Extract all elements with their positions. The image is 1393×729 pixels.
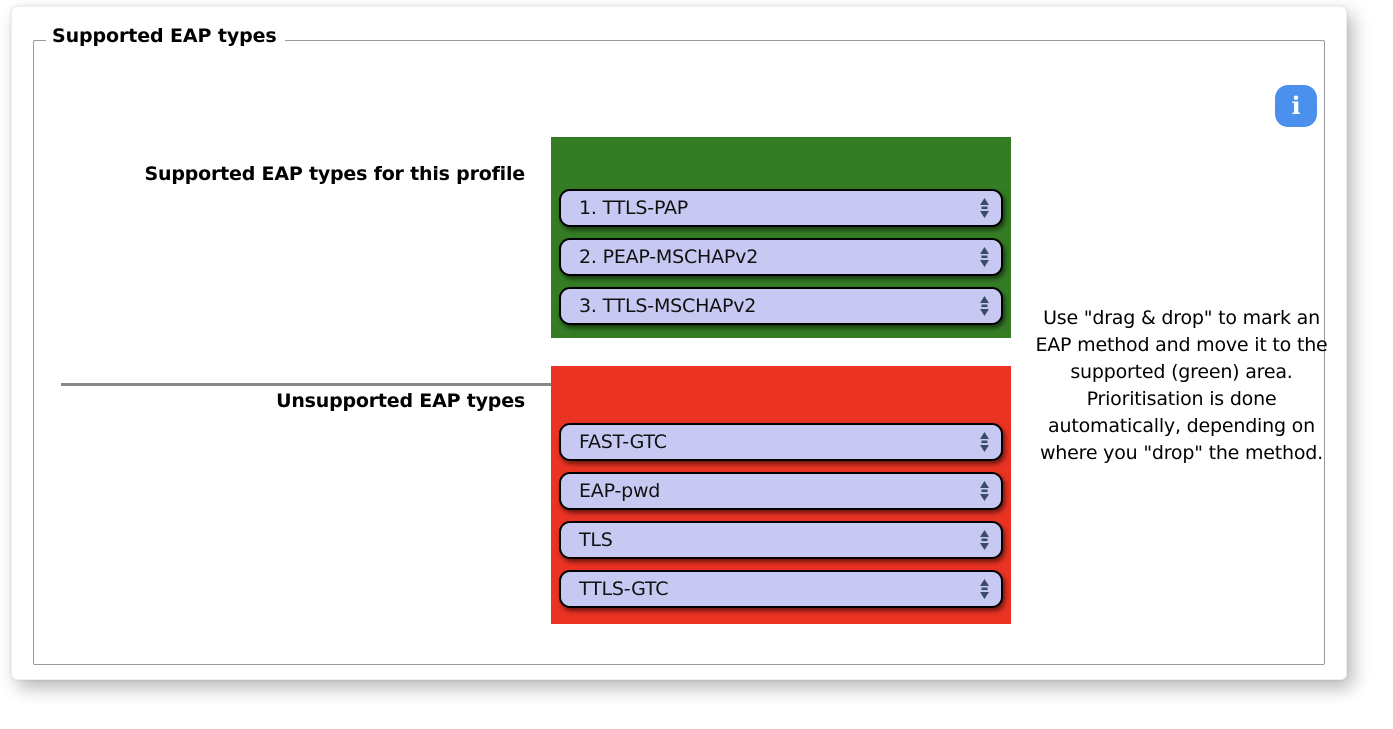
eap-item[interactable]: EAP-pwd — [559, 472, 1003, 510]
sort-updown-icon[interactable] — [967, 474, 1001, 508]
eap-item-label: EAP-pwd — [561, 480, 967, 502]
sort-updown-icon[interactable] — [967, 191, 1001, 225]
eap-item[interactable]: 1. TTLS-PAP — [559, 189, 1003, 227]
supported-eap-types-groupbox: Supported EAP types i Supported EAP type… — [33, 40, 1325, 665]
sort-updown-icon[interactable] — [967, 425, 1001, 459]
eap-item-label: 1. TTLS-PAP — [561, 197, 967, 219]
supported-zone-label: Supported EAP types for this profile — [55, 163, 525, 185]
sort-updown-icon[interactable] — [967, 289, 1001, 323]
eap-item[interactable]: 2. PEAP-MSCHAPv2 — [559, 238, 1003, 276]
eap-item-label: 3. TTLS-MSCHAPv2 — [561, 295, 967, 317]
sort-updown-icon[interactable] — [967, 240, 1001, 274]
eap-item-label: TTLS-GTC — [561, 578, 967, 600]
unsupported-dropzone[interactable]: FAST-GTC EAP-pwd — [551, 366, 1011, 624]
eap-item[interactable]: TLS — [559, 521, 1003, 559]
info-icon[interactable]: i — [1275, 85, 1317, 127]
sort-updown-icon[interactable] — [967, 523, 1001, 557]
eap-item-label: 2. PEAP-MSCHAPv2 — [561, 246, 967, 268]
supported-dropzone[interactable]: 1. TTLS-PAP 2. PEAP-MSCHAPv2 — [551, 137, 1011, 338]
eap-item-label: TLS — [561, 529, 967, 551]
unsupported-zone-label: Unsupported EAP types — [55, 390, 525, 412]
eap-item[interactable]: TTLS-GTC — [559, 570, 1003, 608]
eap-item[interactable]: FAST-GTC — [559, 423, 1003, 461]
group-legend: Supported EAP types — [46, 25, 285, 47]
drag-drop-help-text: Use "drag & drop" to mark an EAP method … — [1034, 305, 1329, 467]
eap-item[interactable]: 3. TTLS-MSCHAPv2 — [559, 287, 1003, 325]
panel-card: Supported EAP types i Supported EAP type… — [11, 6, 1347, 680]
eap-item-label: FAST-GTC — [561, 431, 967, 453]
sort-updown-icon[interactable] — [967, 572, 1001, 606]
